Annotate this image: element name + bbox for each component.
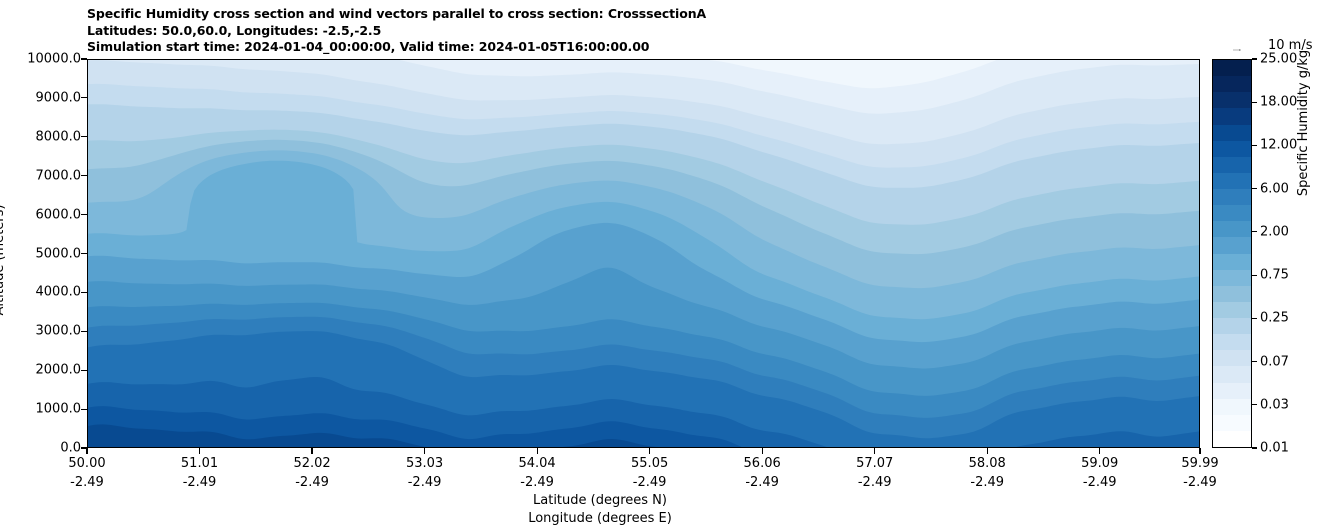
y-tick-label: 1000.0 xyxy=(7,402,81,417)
y-tick-mark xyxy=(81,370,87,371)
x-axis-label-2: Longitude (degrees E) xyxy=(0,511,1200,526)
y-axis: 0.01000.02000.03000.04000.05000.06000.07… xyxy=(0,59,81,448)
colorbar-segment xyxy=(1213,76,1251,92)
colorbar-segment xyxy=(1213,286,1251,302)
y-tick-mark xyxy=(81,331,87,332)
colorbar-segment xyxy=(1213,221,1251,237)
colorbar-tick-mark xyxy=(1252,361,1257,362)
y-tick-mark xyxy=(81,214,87,215)
colorbar-segment xyxy=(1213,108,1251,124)
colorbar-tick-label: 0.03 xyxy=(1260,397,1289,412)
colorbar-tick-mark xyxy=(1252,102,1257,103)
colorbar-tick-label: 6.00 xyxy=(1260,181,1289,196)
colorbar-segment xyxy=(1213,173,1251,189)
colorbar-segment xyxy=(1213,383,1251,399)
y-tick-label: 3000.0 xyxy=(7,324,81,339)
y-tick-label: 8000.0 xyxy=(7,129,81,144)
colorbar-segment xyxy=(1213,431,1251,447)
colorbar-tick-label: 2.00 xyxy=(1260,224,1289,239)
title-line-1: Specific Humidity cross section and wind… xyxy=(87,6,706,23)
colorbar-segment xyxy=(1213,141,1251,157)
colorbar-segment xyxy=(1213,92,1251,108)
y-tick-label: 9000.0 xyxy=(7,90,81,105)
x-axis-titles: Latitude (degrees N) Longitude (degrees … xyxy=(0,448,1326,526)
colorbar-tick-label: 0.75 xyxy=(1260,268,1289,283)
y-tick-label: 5000.0 xyxy=(7,246,81,261)
chart-figure: Specific Humidity cross section and wind… xyxy=(0,0,1326,526)
colorbar-segment xyxy=(1213,205,1251,221)
colorbar-ticks: 0.010.030.070.250.752.006.0012.0018.0025… xyxy=(1252,59,1322,448)
colorbar-segment xyxy=(1213,125,1251,141)
colorbar-segment xyxy=(1213,302,1251,318)
colorbar-segment xyxy=(1213,60,1251,76)
plot-canvas xyxy=(87,59,1200,448)
y-tick-mark xyxy=(81,58,87,59)
colorbar-tick-mark xyxy=(1252,58,1257,59)
cross-section-plot xyxy=(87,59,1200,448)
title-line-2: Latitudes: 50.0,60.0, Longitudes: -2.5,-… xyxy=(87,23,706,40)
y-axis-label: Altitude (meters) xyxy=(0,160,7,360)
title-line-3: Simulation start time: 2024-01-04_00:00:… xyxy=(87,39,706,56)
colorbar-segment xyxy=(1213,270,1251,286)
colorbar-tick-mark xyxy=(1252,318,1257,319)
colorbar-tick-label: 0.01 xyxy=(1260,441,1289,456)
colorbar-tick-mark xyxy=(1252,404,1257,405)
y-tick-mark xyxy=(81,409,87,410)
colorbar-tick-mark xyxy=(1252,447,1257,448)
colorbar-segment xyxy=(1213,350,1251,366)
y-tick-mark xyxy=(81,292,87,293)
colorbar-segment xyxy=(1213,366,1251,382)
colorbar-tick-mark xyxy=(1252,275,1257,276)
colorbar-segment xyxy=(1213,415,1251,431)
colorbar-tick-label: 12.00 xyxy=(1260,138,1297,153)
colorbar-segment xyxy=(1213,334,1251,350)
colorbar-tick-label: 0.07 xyxy=(1260,354,1289,369)
colorbar-tick-mark xyxy=(1252,188,1257,189)
y-tick-label: 10000.0 xyxy=(7,52,81,67)
colorbar-tick-mark xyxy=(1252,145,1257,146)
y-tick-label: 7000.0 xyxy=(7,168,81,183)
arrow-right-icon xyxy=(1213,49,1261,51)
colorbar-tick-label: 18.00 xyxy=(1260,95,1297,110)
y-tick-label: 2000.0 xyxy=(7,363,81,378)
colorbar-segment xyxy=(1213,237,1251,253)
colorbar-segment xyxy=(1213,399,1251,415)
colorbar-title: Specific Humidity g/kg xyxy=(1296,0,1311,253)
humidity-shading xyxy=(87,59,1200,448)
colorbar-segment xyxy=(1213,157,1251,173)
colorbar-tick-label: 25.00 xyxy=(1260,52,1297,67)
page-title: Specific Humidity cross section and wind… xyxy=(87,6,706,56)
colorbar-tick-label: 0.25 xyxy=(1260,311,1289,326)
y-tick-label: 4000.0 xyxy=(7,285,81,300)
colorbar-segment xyxy=(1213,189,1251,205)
y-tick-label: 6000.0 xyxy=(7,207,81,222)
colorbar xyxy=(1212,59,1252,448)
y-tick-mark xyxy=(81,136,87,137)
y-tick-mark xyxy=(81,97,87,98)
colorbar-segment xyxy=(1213,318,1251,334)
y-tick-mark xyxy=(81,253,87,254)
x-axis-label: Latitude (degrees N) xyxy=(0,493,1200,508)
colorbar-tick-mark xyxy=(1252,231,1257,232)
y-tick-mark xyxy=(81,175,87,176)
colorbar-segment xyxy=(1213,254,1251,270)
